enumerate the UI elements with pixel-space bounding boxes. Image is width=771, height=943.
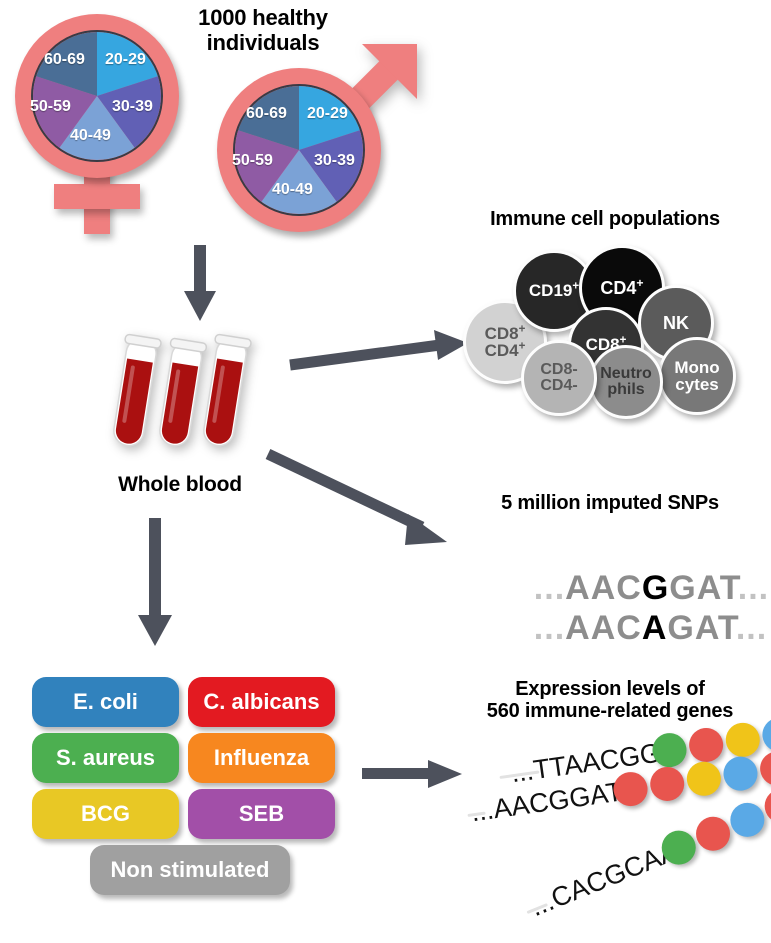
stimulus-label: S. aureus: [56, 745, 155, 771]
gene-bead: [721, 754, 759, 792]
stimulus-label: Non stimulated: [111, 857, 270, 883]
stimulus-c-albicans[interactable]: C. albicans: [188, 677, 335, 727]
male-label-30-39: 30-39: [314, 152, 355, 170]
snp-row2-post: GAT: [667, 609, 735, 647]
whole-blood-label: Whole blood: [80, 473, 280, 497]
snp-sequence-row-2: ...AACAGAT...: [492, 570, 767, 687]
cell-label-line2: phils: [607, 382, 644, 398]
male-label-40-49: 40-49: [272, 181, 313, 199]
stimulus-bcg[interactable]: BCG: [32, 789, 179, 839]
gene-strand-cluster: ...TTAACGG ...AACGGAT ...CACGCAA: [470, 750, 771, 920]
cell-label-line2: CD4+: [485, 342, 526, 359]
female-symbol-crossbar: [54, 184, 140, 209]
arrow-stimuli-to-genes: [362, 755, 472, 795]
female-label-20-29: 20-29: [105, 51, 146, 69]
male-gender-symbol: 20-29 30-39 40-49 50-59 60-69: [203, 40, 433, 250]
snp-row2-trail: ...: [736, 609, 767, 647]
figure-canvas: 1000 healthy individuals 20-29 30-39 40-…: [0, 0, 771, 922]
stimulus-label: BCG: [81, 801, 130, 827]
stimulus-label: C. albicans: [203, 689, 319, 715]
cell-label-line1: Neutro: [600, 366, 652, 382]
cell-label-line1: CD8-: [540, 362, 577, 378]
gene-sequence-3: ...CACGCAA: [526, 836, 682, 923]
cell-monocytes: Mono cytes: [658, 337, 736, 415]
cell-label: NK: [663, 314, 689, 332]
snp-row2-lead: ...: [534, 609, 565, 647]
female-label-50-59: 50-59: [30, 98, 71, 116]
arrow-blood-to-immune-cells: [288, 325, 473, 375]
gene-bead: [648, 765, 686, 803]
stimulus-e-coli[interactable]: E. coli: [32, 677, 179, 727]
gene-expression-title: Expression levels of 560 immune-related …: [452, 678, 768, 723]
cell-label-line2: cytes: [675, 376, 718, 393]
female-gender-symbol: 20-29 30-39 40-49 50-59 60-69: [8, 8, 188, 238]
blood-tubes: [100, 330, 260, 455]
gene-bead: [758, 749, 771, 787]
male-label-60-69: 60-69: [246, 105, 287, 123]
snp-row2-allele: A: [642, 609, 668, 647]
female-label-40-49: 40-49: [70, 127, 111, 145]
cell-label: CD4+: [600, 279, 643, 297]
arrow-down-cohort-to-blood: [180, 245, 220, 325]
stimulus-non-stimulated[interactable]: Non stimulated: [90, 845, 290, 895]
cohort-title-line1: 1000 healthy: [168, 6, 358, 31]
female-label-60-69: 60-69: [44, 51, 85, 69]
stimulus-label: Influenza: [214, 745, 309, 771]
immune-cell-cluster: CD8+ CD4+ CD19+ CD4+ CD8+ NK Mono: [455, 245, 755, 415]
cell-label: CD19+: [529, 282, 579, 299]
cell-cd8-neg-cd4-neg: CD8- CD4-: [521, 340, 597, 416]
immune-cell-populations-title: Immune cell populations: [450, 208, 760, 230]
cell-label-line2: CD4-: [540, 378, 577, 394]
female-label-30-39: 30-39: [112, 98, 153, 116]
stimulus-seb[interactable]: SEB: [188, 789, 335, 839]
snp-row2-pre: AAC: [565, 609, 642, 647]
gene-title-line1: Expression levels of: [452, 678, 768, 700]
stimulus-label: SEB: [239, 801, 284, 827]
stimulus-label: E. coli: [73, 689, 138, 715]
arrow-blood-to-snps: [265, 450, 465, 560]
male-label-50-59: 50-59: [232, 152, 273, 170]
cell-neutrophils: Neutro phils: [589, 345, 663, 419]
snps-title: 5 million imputed SNPs: [460, 492, 760, 514]
gene-sequence-2: ...AACGGAT: [469, 776, 624, 828]
gene-bead: [685, 760, 723, 798]
male-label-20-29: 20-29: [307, 105, 348, 123]
stimulus-influenza[interactable]: Influenza: [188, 733, 335, 783]
arrow-down-blood-to-stimuli: [135, 518, 175, 648]
gene-bead: [725, 798, 769, 842]
gene-bead: [691, 812, 735, 856]
cell-label-line1: Mono: [674, 359, 719, 376]
stimulus-s-aureus[interactable]: S. aureus: [32, 733, 179, 783]
